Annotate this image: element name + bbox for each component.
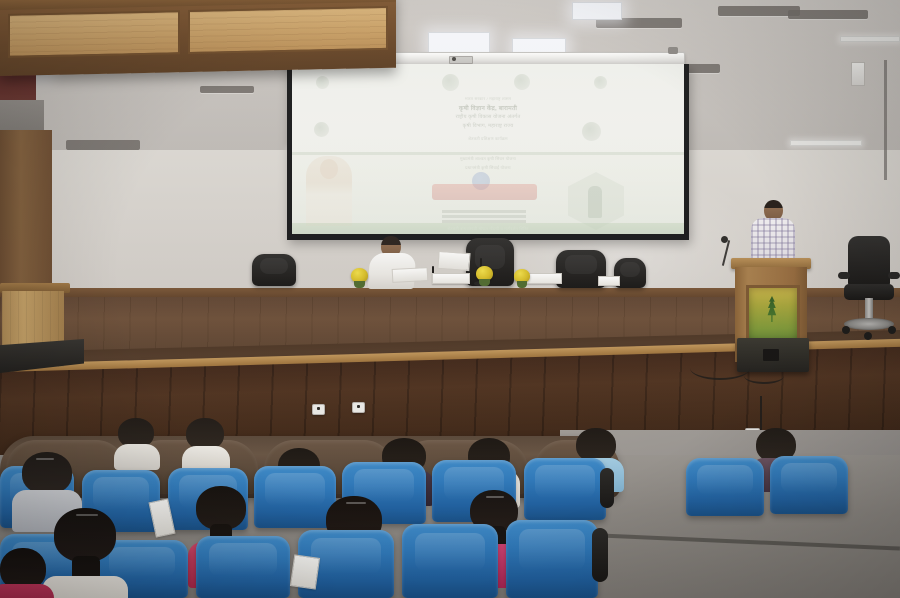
hair-part: [346, 502, 366, 504]
audience-chair: [196, 536, 290, 598]
office-chair-base: [844, 318, 894, 330]
audience-chair: [402, 524, 498, 598]
slide-emblem-icon: [594, 76, 607, 89]
chair-armrest: [592, 528, 608, 582]
hair-part: [486, 496, 504, 498]
ceiling-light-strip: [790, 140, 862, 146]
wall-conduit: [884, 60, 887, 180]
name-card: [432, 273, 470, 284]
ceiling-air-vent: [200, 86, 254, 93]
person-head: [54, 508, 116, 562]
paper-bundle: [392, 267, 429, 283]
wall-outlet: [352, 402, 365, 413]
slide-subtitle-line-1: मुख्यमंत्री शाश्वत कृषी सिंचन योजना: [292, 156, 684, 162]
person-body: [42, 576, 128, 598]
dais-chair: [252, 254, 296, 286]
slide-emblem-icon: [442, 74, 459, 91]
handout-paper: [290, 554, 320, 589]
slide-header-line-1: भारत सरकार / महाराष्ट्र शासन: [292, 96, 684, 102]
name-card: [598, 276, 620, 286]
flower-bouquet: [514, 269, 530, 283]
audience-chair: [686, 458, 764, 516]
office-chair: [838, 236, 900, 344]
person-body: [0, 584, 54, 598]
slide-header-line-3: राष्ट्रीय कृषी विकास योजना अंतर्गत: [292, 114, 684, 120]
audience-chair: [254, 466, 336, 528]
hair-part: [36, 458, 54, 460]
plant-emblem-icon: [767, 296, 777, 322]
slide-footer-band: [292, 223, 684, 234]
floor-cable: [744, 368, 784, 384]
hair-part: [76, 514, 98, 516]
office-chair-armrest-right: [888, 272, 900, 279]
floor-cable: [690, 356, 750, 380]
person-body: [114, 444, 160, 470]
name-card: [526, 273, 562, 284]
ceiling-light-panel: [572, 2, 622, 20]
wall-junction-box: [851, 62, 865, 86]
office-chair-gas-lift: [865, 298, 873, 320]
slide-emblem-icon: [514, 74, 530, 90]
flower-bouquet: [476, 266, 493, 281]
audience-chair: [506, 520, 598, 598]
slide-ribbon-banner: [432, 184, 537, 200]
dais-panel-left: [8, 10, 180, 58]
projected-slide: भारत सरकार / महाराष्ट्र शासन कृषी विज्ञा…: [292, 64, 684, 234]
ceiling-light-strip: [840, 36, 900, 42]
wall-outlet: [312, 404, 325, 415]
standing-speaker: [751, 200, 795, 262]
slide-farmer-figure-icon: [588, 186, 602, 218]
slide-header-line-2: कृषी विज्ञान केंद्र, बारामती: [292, 104, 684, 112]
slide-emblem-icon: [316, 76, 329, 89]
podium-microphone-icon: [721, 236, 728, 243]
screen-bracket-right: [668, 47, 678, 54]
flower-bouquet: [351, 268, 368, 283]
projector-screen: भारत सरकार / महाराष्ट्र शासन कृषी विज्ञा…: [287, 64, 689, 240]
ceiling-air-vent: [788, 10, 868, 19]
paper-bundle: [437, 251, 470, 271]
screen-housing-sensor-icon: [452, 57, 456, 61]
office-chair-caster: [888, 326, 896, 334]
auditorium-photo: भारत सरकार / महाराष्ट्र शासन कृषी विज्ञा…: [0, 0, 900, 598]
office-chair-caster: [842, 326, 850, 334]
audience-chair: [524, 458, 606, 520]
dais-panel-right: [188, 6, 388, 54]
office-chair-armrest-left: [838, 272, 850, 279]
audience-chair: [770, 456, 848, 514]
slide-header-line-4: कृषी विभाग, महाराष्ट्र राज्य: [292, 123, 684, 129]
slide-portrait-head: [320, 159, 338, 179]
chair-armrest: [600, 468, 614, 508]
head-table-dais: [0, 0, 396, 76]
slide-divider-band: [292, 152, 684, 155]
slide-header-line-5: शेतकरी प्रशिक्षण कार्यक्रम: [292, 136, 684, 142]
person-head: [576, 428, 616, 462]
office-chair-caster: [864, 332, 872, 340]
office-chair-backrest: [848, 236, 890, 288]
speaker-body: [751, 218, 795, 262]
ceiling-air-vent: [66, 140, 140, 150]
